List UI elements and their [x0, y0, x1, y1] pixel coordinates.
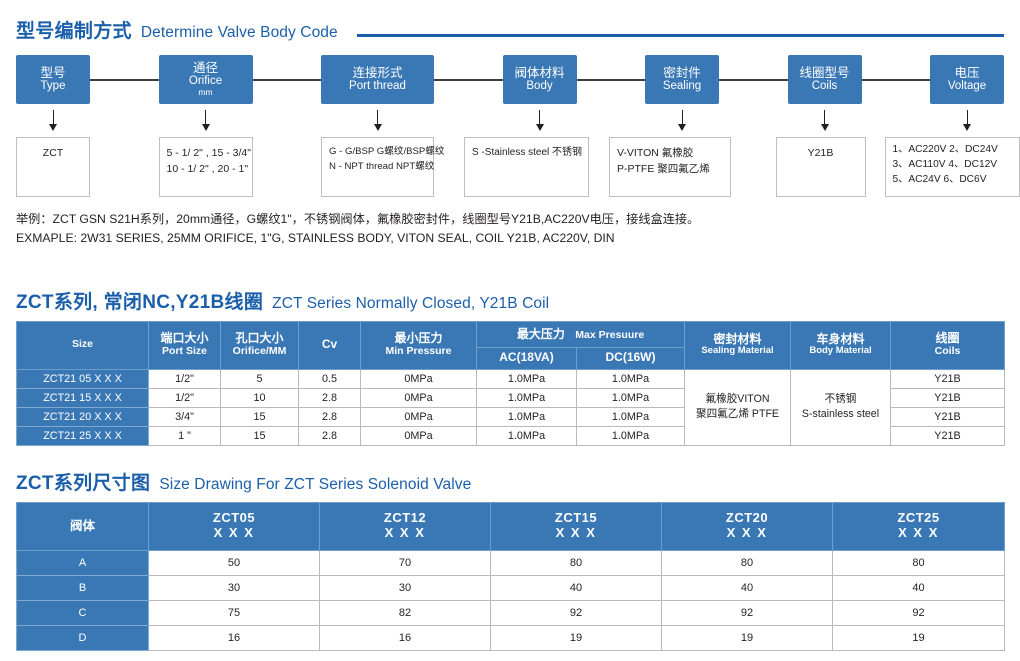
- cell-dimension-value: 40: [491, 576, 662, 601]
- flow-box-sealing: V-VITON 氟橡胶 P-PTFE 聚四氟乙烯: [609, 137, 731, 197]
- col-header-size-en: Size: [19, 339, 146, 351]
- section-valve-body-code: 型号编制方式 Determine Valve Body Code 型号 Type…: [16, 16, 1004, 247]
- cell-dimension-value: 80: [662, 551, 833, 576]
- section3-title: ZCT系列尺寸图 Size Drawing For ZCT Series Sol…: [16, 468, 1004, 495]
- flow-column-sealing: 密封件 Sealing V-VITON 氟橡胶 P-PTFE 聚四氟乙烯: [645, 55, 719, 197]
- size-drawing-table: 阀体 ZCT05 X X X ZCT12 X X X ZCT15 X X X Z…: [16, 502, 1005, 651]
- flow-connector-3: [434, 55, 503, 104]
- arrow-down-icon: [678, 110, 687, 132]
- flow-head-type: 型号 Type: [16, 55, 90, 104]
- col-header-body-material-cn: 车身材料: [793, 333, 888, 347]
- cell-port-size: 1/2": [149, 388, 221, 407]
- cell-dimension-value: 19: [662, 626, 833, 651]
- table-row: C 75 82 92 92 92: [17, 601, 1005, 626]
- table-row: B 30 30 40 40 40: [17, 576, 1005, 601]
- cell-orifice: 15: [221, 407, 299, 426]
- col-header-max-ac-label: AC(18VA): [499, 350, 553, 364]
- section-size-drawing: ZCT系列尺寸图 Size Drawing For ZCT Series Sol…: [16, 468, 1004, 651]
- cell-body-material-line2: S-stainless steel: [791, 407, 890, 422]
- col-header-body-material-en: Body Material: [793, 346, 888, 357]
- cell-coils: Y21B: [891, 407, 1005, 426]
- col-header-port-size-en: Port Size: [151, 346, 218, 358]
- col-header-max-ac: AC(18VA): [477, 348, 577, 370]
- cell-cv: 2.8: [299, 426, 361, 445]
- flow-box-sealing-line2: P-PTFE 聚四氟乙烯: [617, 161, 723, 177]
- flow-head-type-en: Type: [20, 80, 86, 93]
- arrow-down-icon: [373, 110, 382, 132]
- flow-head-voltage-en: Voltage: [934, 80, 1000, 93]
- cell-max-dc: 1.0MPa: [577, 388, 685, 407]
- section3-title-en: Size Drawing For ZCT Series Solenoid Val…: [159, 476, 471, 494]
- col-header-zct20: ZCT20 X X X: [662, 503, 833, 551]
- cell-port-size: 1/2": [149, 369, 221, 388]
- flow-box-orifice-line1: 5 - 1/ 2" , 15 - 3/4": [167, 145, 245, 161]
- col-header-body-material: 车身材料 Body Material: [791, 322, 891, 370]
- cell-port-size: 1 ": [149, 426, 221, 445]
- col-header-zct12: ZCT12 X X X: [320, 503, 491, 551]
- example-line-cn: 举例：ZCT GSN S21H系列，20mm通径，G螺纹1"，不锈钢阀体，氟橡胶…: [16, 210, 1004, 229]
- flow-box-port-thread: G - G/BSP G螺纹/BSP螺纹 N - NPT thread NPT螺纹: [321, 137, 434, 197]
- col-header-max-pressure-cn: 最大压力: [517, 327, 565, 341]
- cell-size: ZCT21 15 X X X: [17, 388, 149, 407]
- col-header-size: Size: [17, 322, 149, 370]
- flow-head-orifice-en: Orifice: [163, 75, 249, 88]
- flow-arrow-coils: [820, 104, 829, 137]
- section2-title: ZCT系列, 常闭NC,Y21B线圈 ZCT Series Normally C…: [16, 287, 1004, 314]
- valve-code-flow: 型号 Type ZCT 通径 Orifice mm 5 - 1/ 2" , 15…: [16, 55, 1004, 197]
- col-header-valve-body: 阀体: [17, 503, 149, 551]
- example-block: 举例：ZCT GSN S21H系列，20mm通径，G螺纹1"，不锈钢阀体，氟橡胶…: [16, 210, 1004, 247]
- flow-head-coils-en: Coils: [792, 80, 858, 93]
- example-line-en: EXMAPLE: 2W31 SERIES, 25MM ORIFICE, 1"G,…: [16, 229, 1004, 248]
- cell-dimension-value: 30: [320, 576, 491, 601]
- col-header-orifice: 孔口大小 Orifice/MM: [221, 322, 299, 370]
- flow-box-orifice: 5 - 1/ 2" , 15 - 3/4" 10 - 1/ 2" , 20 - …: [159, 137, 253, 197]
- flow-connector-2: [253, 55, 322, 104]
- cell-dimension-label: A: [17, 551, 149, 576]
- cell-dimension-value: 16: [149, 626, 320, 651]
- cell-sealing-material-line2: 聚四氟乙烯 PTFE: [685, 407, 790, 422]
- col-header-zct20-model: ZCT20: [664, 511, 830, 526]
- col-header-zct25-suffix: X X X: [835, 526, 1002, 541]
- col-header-zct05: ZCT05 X X X: [149, 503, 320, 551]
- cell-max-dc: 1.0MPa: [577, 426, 685, 445]
- cell-min-pressure: 0MPa: [361, 388, 477, 407]
- cell-body-material-line1: 不锈钢: [791, 392, 890, 407]
- cell-dimension-value: 92: [491, 601, 662, 626]
- flow-head-orifice-cn: 通径: [163, 61, 249, 75]
- table-row: D 16 16 19 19 19: [17, 626, 1005, 651]
- flow-box-voltage-line3: 5、AC24V 6、DC6V: [893, 173, 1012, 188]
- flow-head-sealing-en: Sealing: [649, 80, 715, 93]
- flow-head-orifice-unit: mm: [163, 88, 249, 98]
- col-header-coils-cn: 线圈: [893, 332, 1002, 346]
- col-header-sealing-material-cn: 密封材料: [687, 333, 788, 347]
- flow-box-orifice-line2: 10 - 1/ 2" , 20 - 1": [167, 161, 245, 177]
- flow-box-type-line1: ZCT: [24, 145, 82, 161]
- flow-head-coils: 线圈型号 Coils: [788, 55, 862, 104]
- cell-orifice: 5: [221, 369, 299, 388]
- col-header-zct20-suffix: X X X: [664, 526, 830, 541]
- flow-arrow-orifice: [201, 104, 210, 137]
- flow-arrow-type: [49, 104, 58, 137]
- cell-coils: Y21B: [891, 369, 1005, 388]
- flow-column-coils: 线圈型号 Coils Y21B: [788, 55, 862, 197]
- cell-max-dc: 1.0MPa: [577, 407, 685, 426]
- cell-orifice: 15: [221, 426, 299, 445]
- cell-dimension-value: 19: [491, 626, 662, 651]
- cell-dimension-value: 92: [833, 601, 1005, 626]
- col-header-zct15-model: ZCT15: [493, 511, 659, 526]
- flow-connector-5: [719, 55, 788, 104]
- flow-head-port-thread: 连接形式 Port thread: [321, 55, 434, 104]
- flow-head-body: 阀体材料 Body: [503, 55, 577, 104]
- flow-box-port-thread-line2: N - NPT thread NPT螺纹: [329, 160, 426, 175]
- flow-box-body: S -Stainless steel 不锈钢: [464, 137, 589, 197]
- cell-dimension-label: B: [17, 576, 149, 601]
- cell-dimension-value: 80: [833, 551, 1005, 576]
- spec-table-header-row-1: Size 端口大小 Port Size 孔口大小 Orifice/MM Cv 最…: [17, 322, 1005, 348]
- flow-box-voltage: 1、AC220V 2、DC24V 3、AC110V 4、DC12V 5、AC24…: [885, 137, 1020, 197]
- cell-min-pressure: 0MPa: [361, 407, 477, 426]
- title-divider-rule: [357, 34, 1004, 37]
- col-header-zct12-suffix: X X X: [322, 526, 488, 541]
- flow-column-type: 型号 Type ZCT: [16, 55, 90, 197]
- cell-coils: Y21B: [891, 388, 1005, 407]
- flow-arrow-voltage: [963, 104, 972, 137]
- flow-head-voltage-cn: 电压: [934, 66, 1000, 80]
- col-header-zct15-suffix: X X X: [493, 526, 659, 541]
- flow-box-body-line1: S -Stainless steel 不锈钢: [472, 145, 581, 161]
- col-header-orifice-cn: 孔口大小: [223, 332, 296, 346]
- cell-dimension-value: 82: [320, 601, 491, 626]
- flow-head-voltage: 电压 Voltage: [930, 55, 1004, 104]
- cell-cv: 2.8: [299, 388, 361, 407]
- cell-dimension-value: 75: [149, 601, 320, 626]
- size-table-header-row: 阀体 ZCT05 X X X ZCT12 X X X ZCT15 X X X Z…: [17, 503, 1005, 551]
- arrow-down-icon: [201, 110, 210, 132]
- cell-dimension-value: 70: [320, 551, 491, 576]
- col-header-coils: 线圈 Coils: [891, 322, 1005, 370]
- arrow-down-icon: [535, 110, 544, 132]
- col-header-valve-body-label: 阀体: [70, 519, 95, 533]
- col-header-zct25-model: ZCT25: [835, 511, 1002, 526]
- cell-dimension-label: C: [17, 601, 149, 626]
- section1-title-en: Determine Valve Body Code: [141, 24, 338, 42]
- col-header-min-pressure-en: Min Pressure: [363, 346, 474, 358]
- cell-min-pressure: 0MPa: [361, 426, 477, 445]
- cell-max-ac: 1.0MPa: [477, 426, 577, 445]
- flow-box-coils-line1: Y21B: [784, 145, 858, 161]
- flow-box-sealing-line1: V-VITON 氟橡胶: [617, 145, 723, 161]
- cell-min-pressure: 0MPa: [361, 369, 477, 388]
- section3-title-cn: ZCT系列尺寸图: [16, 468, 150, 495]
- section1-title-cn: 型号编制方式: [16, 16, 132, 43]
- flow-head-type-cn: 型号: [20, 66, 86, 80]
- cell-dimension-value: 50: [149, 551, 320, 576]
- flow-head-sealing: 密封件 Sealing: [645, 55, 719, 104]
- cell-size: ZCT21 25 X X X: [17, 426, 149, 445]
- cell-size: ZCT21 20 X X X: [17, 407, 149, 426]
- flow-box-type: ZCT: [16, 137, 90, 197]
- section2-title-en: ZCT Series Normally Closed, Y21B Coil: [272, 295, 549, 313]
- cell-max-ac: 1.0MPa: [477, 388, 577, 407]
- cell-dimension-value: 40: [662, 576, 833, 601]
- flow-head-body-en: Body: [507, 80, 573, 93]
- cell-dimension-value: 40: [833, 576, 1005, 601]
- flow-arrow-port-thread: [373, 104, 382, 137]
- col-header-sealing-material: 密封材料 Sealing Material: [685, 322, 791, 370]
- col-header-max-dc-label: DC(16W): [606, 350, 656, 364]
- flow-box-voltage-line2: 3、AC110V 4、DC12V: [893, 158, 1012, 173]
- col-header-coils-en: Coils: [893, 346, 1002, 358]
- flow-box-voltage-line1: 1、AC220V 2、DC24V: [893, 143, 1012, 158]
- col-header-port-size: 端口大小 Port Size: [149, 322, 221, 370]
- table-row: ZCT21 05 X X X 1/2" 5 0.5 0MPa 1.0MPa 1.…: [17, 369, 1005, 388]
- col-header-cv: Cv: [299, 322, 361, 370]
- col-header-min-pressure-cn: 最小压力: [363, 332, 474, 346]
- section1-title: 型号编制方式 Determine Valve Body Code: [16, 16, 1004, 43]
- flow-head-orifice: 通径 Orifice mm: [159, 55, 253, 104]
- col-header-cv-en: Cv: [322, 337, 337, 351]
- cell-dimension-value: 19: [833, 626, 1005, 651]
- cell-dimension-value: 80: [491, 551, 662, 576]
- col-header-max-dc: DC(16W): [577, 348, 685, 370]
- cell-cv: 2.8: [299, 407, 361, 426]
- cell-dimension-label: D: [17, 626, 149, 651]
- col-header-min-pressure: 最小压力 Min Pressure: [361, 322, 477, 370]
- flow-head-sealing-cn: 密封件: [649, 66, 715, 80]
- col-header-port-size-cn: 端口大小: [151, 332, 218, 346]
- flow-arrow-sealing: [678, 104, 687, 137]
- flow-head-body-cn: 阀体材料: [507, 66, 573, 80]
- flow-head-port-thread-en: Port thread: [325, 80, 430, 93]
- flow-column-voltage: 电压 Voltage 1、AC220V 2、DC24V 3、AC110V 4、D…: [930, 55, 1004, 197]
- col-header-zct25: ZCT25 X X X: [833, 503, 1005, 551]
- flow-connector-6: [862, 55, 931, 104]
- flow-connector-1: [90, 55, 159, 104]
- col-header-zct15: ZCT15 X X X: [491, 503, 662, 551]
- cell-port-size: 3/4": [149, 407, 221, 426]
- cell-cv: 0.5: [299, 369, 361, 388]
- arrow-down-icon: [963, 110, 972, 132]
- spec-table: Size 端口大小 Port Size 孔口大小 Orifice/MM Cv 最…: [16, 321, 1005, 446]
- table-row: A 50 70 80 80 80: [17, 551, 1005, 576]
- flow-column-orifice: 通径 Orifice mm 5 - 1/ 2" , 15 - 3/4" 10 -…: [159, 55, 253, 197]
- col-header-max-pressure-en: Max Presuure: [575, 329, 644, 341]
- flow-column-port-thread: 连接形式 Port thread G - G/BSP G螺纹/BSP螺纹 N -…: [321, 55, 434, 197]
- cell-dimension-value: 30: [149, 576, 320, 601]
- col-header-zct05-suffix: X X X: [151, 526, 317, 541]
- cell-dimension-value: 16: [320, 626, 491, 651]
- col-header-max-pressure: 最大压力 Max Presuure: [477, 322, 685, 348]
- cell-body-material: 不锈钢 S-stainless steel: [791, 369, 891, 445]
- arrow-down-icon: [820, 110, 829, 132]
- cell-coils: Y21B: [891, 426, 1005, 445]
- cell-sealing-material: 氟橡胶VITON 聚四氟乙烯 PTFE: [685, 369, 791, 445]
- col-header-zct12-model: ZCT12: [322, 511, 488, 526]
- cell-dimension-value: 92: [662, 601, 833, 626]
- flow-arrow-body: [535, 104, 544, 137]
- cell-sealing-material-line1: 氟橡胶VITON: [685, 392, 790, 407]
- flow-connector-4: [577, 55, 646, 104]
- col-header-orifice-en: Orifice/MM: [223, 346, 296, 358]
- cell-max-ac: 1.0MPa: [477, 407, 577, 426]
- arrow-down-icon: [49, 110, 58, 132]
- col-header-sealing-material-en: Sealing Material: [687, 346, 788, 357]
- section2-title-cn: ZCT系列, 常闭NC,Y21B线圈: [16, 287, 263, 314]
- cell-size: ZCT21 05 X X X: [17, 369, 149, 388]
- cell-orifice: 10: [221, 388, 299, 407]
- flow-head-port-thread-cn: 连接形式: [325, 66, 430, 80]
- section-nc-coil-specs: ZCT系列, 常闭NC,Y21B线圈 ZCT Series Normally C…: [16, 287, 1004, 446]
- col-header-zct05-model: ZCT05: [151, 511, 317, 526]
- flow-box-coils: Y21B: [776, 137, 866, 197]
- cell-max-dc: 1.0MPa: [577, 369, 685, 388]
- flow-box-port-thread-line1: G - G/BSP G螺纹/BSP螺纹: [329, 145, 426, 160]
- cell-max-ac: 1.0MPa: [477, 369, 577, 388]
- flow-head-coils-cn: 线圈型号: [792, 66, 858, 80]
- flow-column-body: 阀体材料 Body S -Stainless steel 不锈钢: [503, 55, 577, 197]
